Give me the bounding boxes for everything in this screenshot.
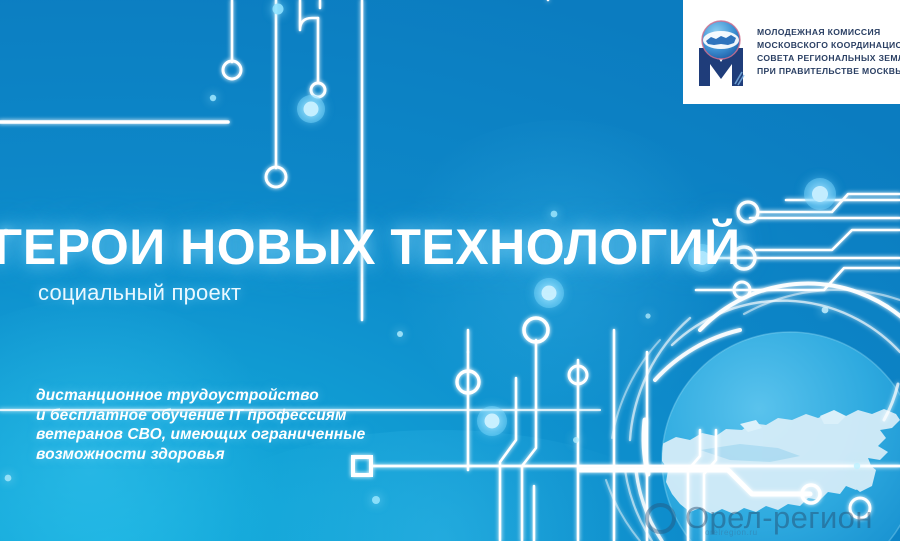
logo-line-3: СОВЕТА РЕГИОНАЛЬНЫХ ЗЕМЛЯЧЕСТВ (757, 53, 900, 64)
poster-description: дистанционное трудоустройство и бесплатн… (36, 386, 456, 464)
logo-line-1: МОЛОДЕЖНАЯ КОМИССИЯ (757, 27, 900, 38)
watermark: Орел-регион (645, 500, 873, 536)
logo-line-4: ПРИ ПРАВИТЕЛЬСТВЕ МОСКВЫ (757, 66, 900, 77)
watermark-ring-icon (645, 503, 676, 534)
watermark-sublabel: orelregion.ru (705, 528, 758, 537)
page-title: ГЕРОИ НОВЫХ ТЕХНОЛОГИЙ (0, 222, 634, 272)
globe-over-letter-m-emblem (691, 14, 751, 90)
description-line-3: ветеранов СВО, имеющих ограниченные (36, 425, 456, 445)
organization-logo-text: МОЛОДЕЖНАЯ КОМИССИЯ МОСКОВСКОГО КООРДИНА… (757, 27, 900, 77)
logo-line-2: МОСКОВСКОГО КООРДИНАЦИОННОГО (757, 40, 900, 51)
page-subtitle: социальный проект (38, 280, 241, 306)
poster-canvas: ГЕРОИ НОВЫХ ТЕХНОЛОГИЙ социальный проект… (0, 0, 900, 541)
description-line-2: и бесплатное обучение IT профессиям (36, 406, 456, 426)
description-line-1: дистанционное трудоустройство (36, 386, 456, 406)
organization-logo-panel: МОЛОДЕЖНАЯ КОМИССИЯ МОСКОВСКОГО КООРДИНА… (683, 0, 900, 104)
description-line-4: возможности здоровья (36, 445, 456, 465)
